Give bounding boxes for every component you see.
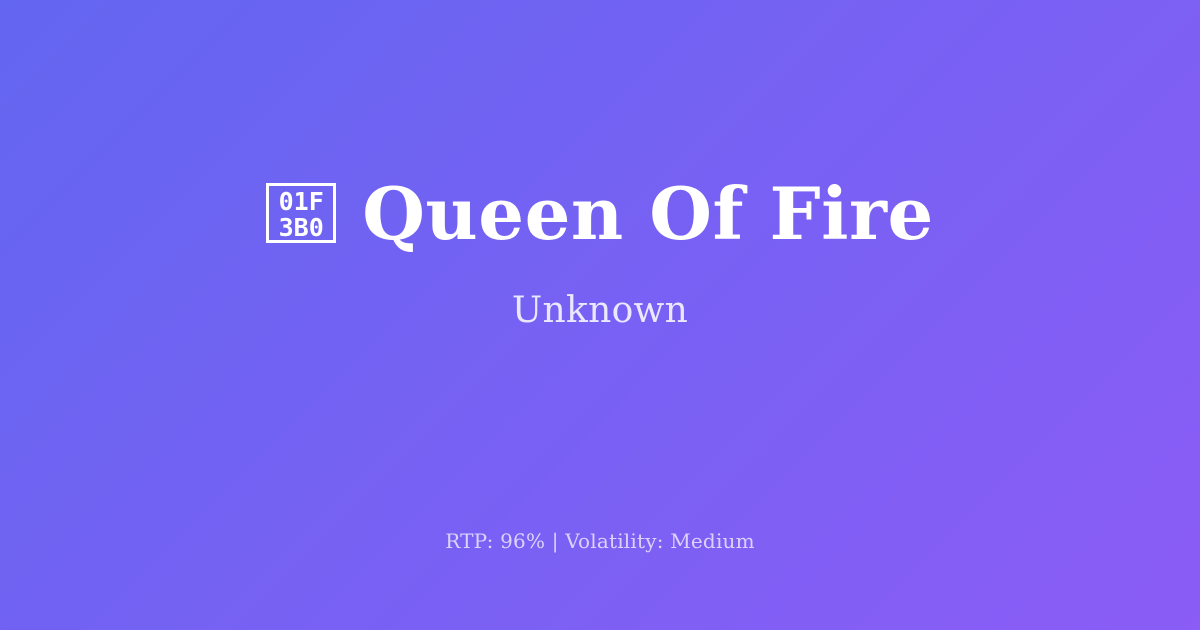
og-share-card: 01F 3B0 Queen Of Fire Unknown RTP: 96% |…: [0, 0, 1200, 630]
card-body: 01F 3B0 Queen Of Fire Unknown: [0, 0, 1200, 508]
slot-machine-icon: 01F 3B0: [266, 183, 336, 243]
slot-machine-icon-codepoint-bottom: 3B0: [269, 215, 333, 240]
slot-machine-icon-codepoint-top: 01F: [269, 189, 333, 214]
game-provider: Unknown: [512, 289, 688, 332]
game-title: Queen Of Fire: [362, 176, 934, 252]
title-row: 01F 3B0 Queen Of Fire: [266, 176, 934, 252]
game-stats-line: RTP: 96% | Volatility: Medium: [0, 528, 1200, 554]
